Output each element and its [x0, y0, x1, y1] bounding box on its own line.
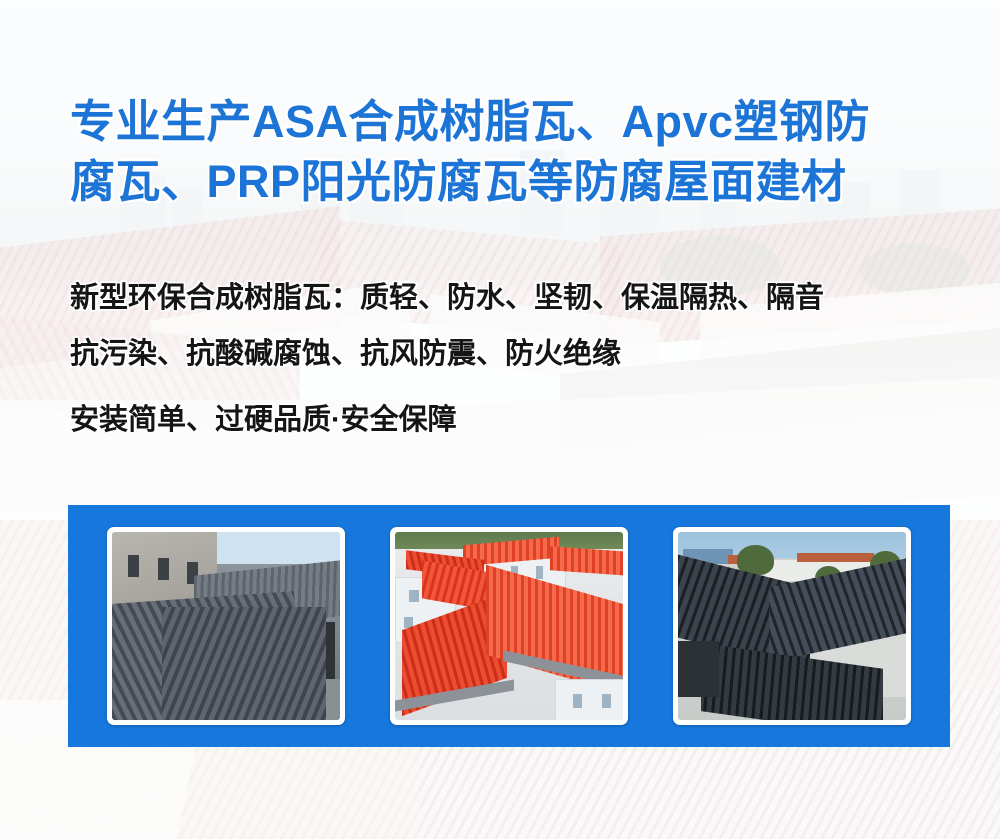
photo-frame-grey-resin-tile-roof[interactable]: [107, 527, 345, 725]
photo-gallery-panel: [68, 505, 950, 747]
distant-red-roof: [797, 553, 875, 562]
product-promo-banner: 专业生产ASA合成树脂瓦、Apvc塑钢防 腐瓦、PRP阳光防腐瓦等防腐屋面建材 …: [0, 0, 1000, 839]
photo-black-resin-tile-roof: [678, 532, 906, 720]
white-building: [555, 679, 623, 720]
feature-list: 新型环保合成树脂瓦：质轻、防水、坚韧、保温隔热、隔音 抗污染、抗酸碱腐蚀、抗风防…: [70, 270, 970, 448]
feature-line-1: 新型环保合成树脂瓦：质轻、防水、坚韧、保温隔热、隔音: [70, 270, 970, 326]
feature-line-3: 安装简单、过硬品质·安全保障: [70, 392, 970, 448]
headline-line-1: 专业生产ASA合成树脂瓦、Apvc塑钢防: [70, 92, 970, 152]
window: [602, 694, 611, 708]
window: [128, 555, 139, 577]
secondary-tile-roof: [162, 607, 326, 720]
headline-line-2: 腐瓦、PRP阳光防腐瓦等防腐屋面建材: [70, 152, 970, 212]
window: [409, 590, 419, 602]
red-roof-right: [550, 546, 623, 576]
photo-red-resin-tile-roof: [395, 532, 623, 720]
photo-grey-resin-tile-roof: [112, 532, 340, 720]
window: [536, 566, 543, 579]
window: [158, 558, 169, 580]
photo-frame-black-resin-tile-roof[interactable]: [673, 527, 911, 725]
photo-frame-red-resin-tile-roof[interactable]: [390, 527, 628, 725]
shaded-wall: [678, 641, 719, 697]
feature-line-2: 抗污染、抗酸碱腐蚀、抗风防震、防火绝缘: [70, 326, 970, 382]
headline: 专业生产ASA合成树脂瓦、Apvc塑钢防 腐瓦、PRP阳光防腐瓦等防腐屋面建材: [70, 92, 970, 212]
window: [573, 694, 582, 708]
